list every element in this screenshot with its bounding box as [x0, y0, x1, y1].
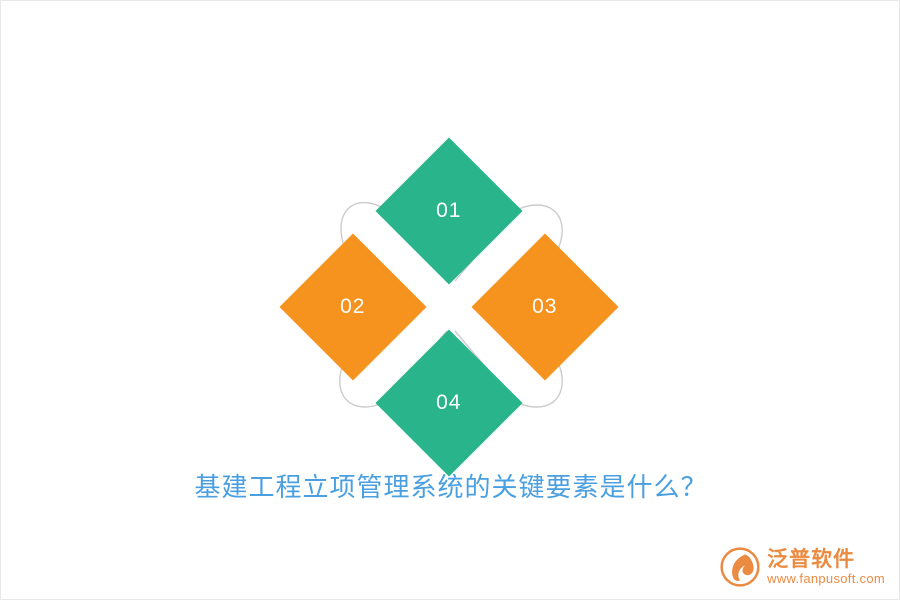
- diagram-node-02-label: 02: [340, 295, 365, 319]
- diagram-node-04-label: 04: [436, 391, 461, 415]
- diagram-node-03-label: 03: [532, 295, 557, 319]
- process-diagram: 01 02 03 04: [291, 151, 611, 461]
- diagram-caption: 基建工程立项管理系统的关键要素是什么？: [1, 467, 900, 504]
- fanpu-logo-icon: [720, 547, 760, 587]
- watermark-text: 泛普软件 www.fanpusoft.com: [767, 547, 885, 586]
- watermark-url: www.fanpusoft.com: [767, 572, 885, 587]
- diagram-node-01-label: 01: [436, 199, 461, 223]
- slide-canvas: 01 02 03 04 基建工程立项管理系统的关键要素是什么？ 泛普软件 www…: [0, 0, 900, 600]
- watermark-name: 泛普软件: [767, 547, 855, 571]
- watermark-logo: 泛普软件 www.fanpusoft.com: [720, 547, 885, 587]
